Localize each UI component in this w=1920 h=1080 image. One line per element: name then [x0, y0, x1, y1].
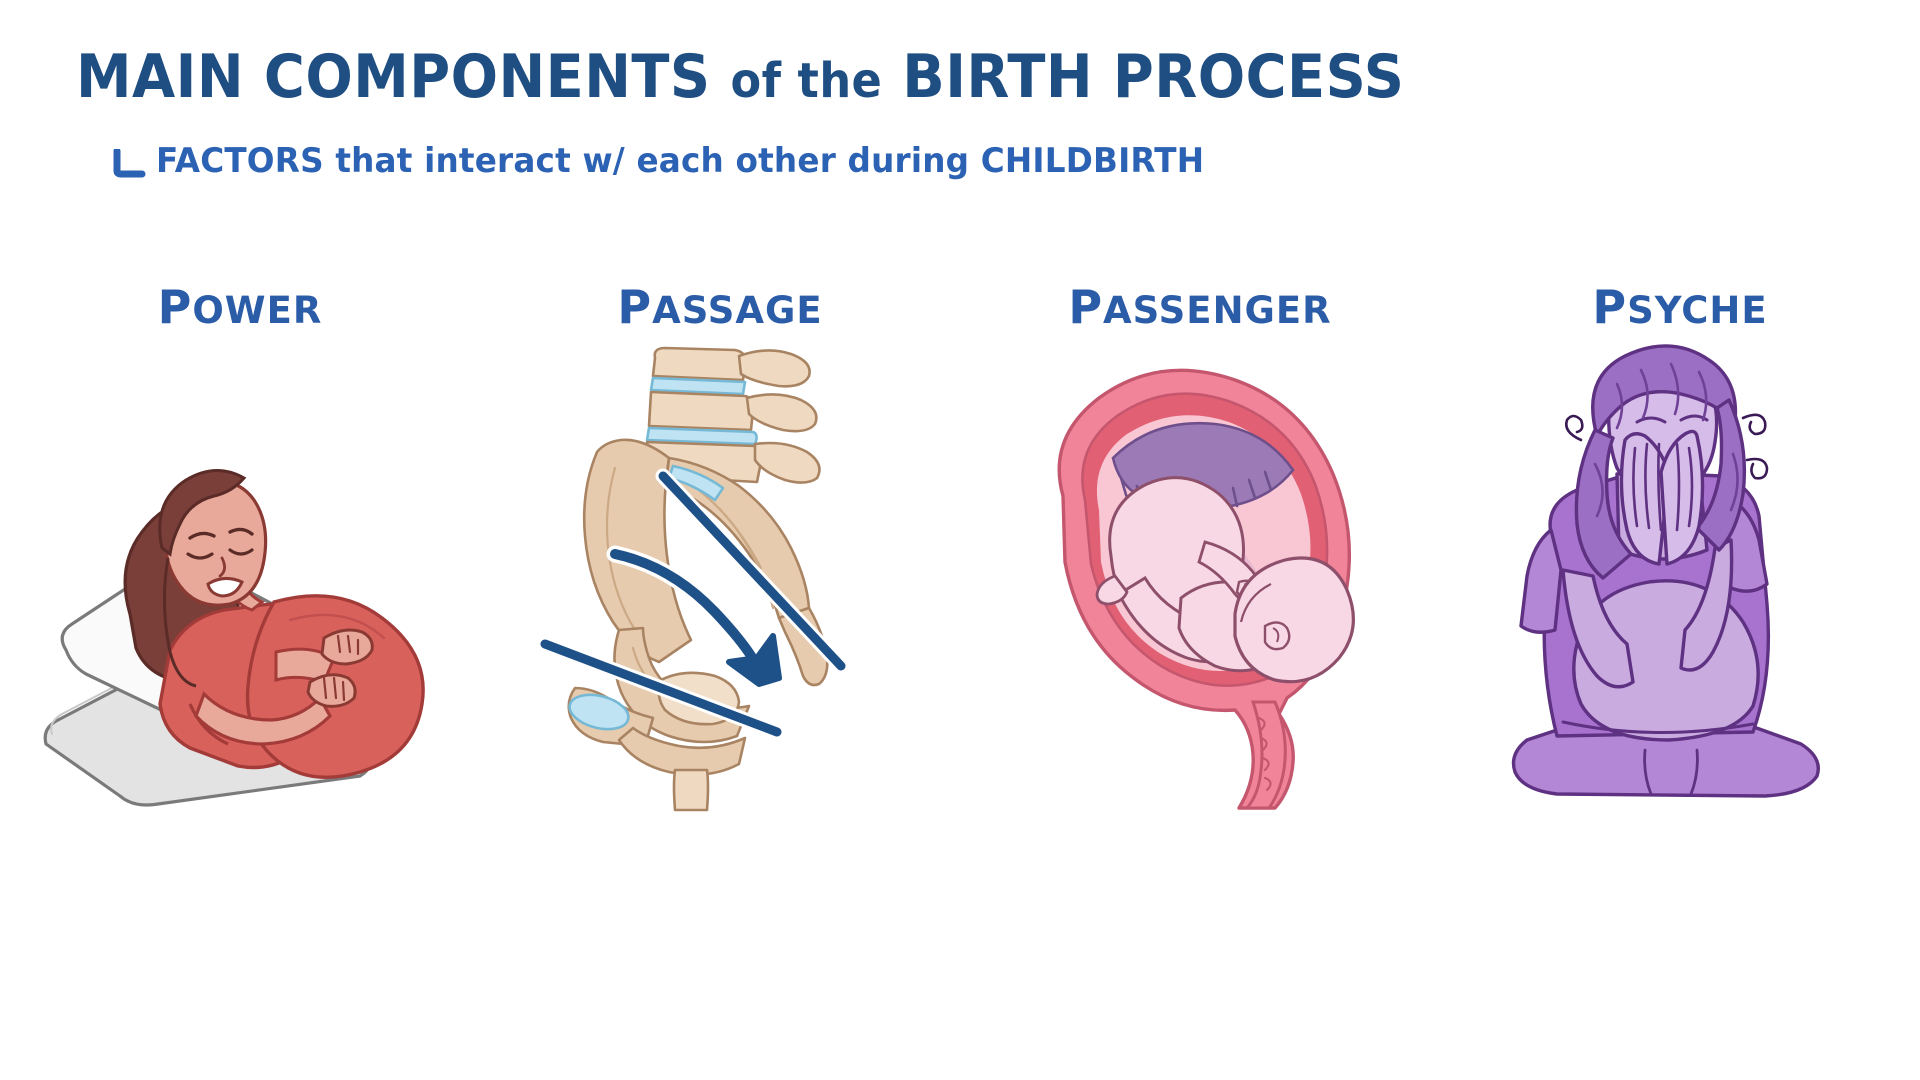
panel-label-power-cap: P	[158, 280, 193, 334]
panel-label-passenger-cap: P	[1068, 280, 1103, 334]
corner-elbow-icon	[112, 149, 146, 179]
panel-label-passage: PASSAGE	[617, 280, 822, 334]
panel-label-passage-rest: ASSAGE	[652, 289, 823, 332]
panel-psyche[interactable]: PSYCHE	[1440, 280, 1920, 900]
panel-label-passenger: PASSENGER	[1068, 280, 1331, 334]
panel-label-power-rest: OWER	[192, 289, 322, 332]
panel-label-passage-cap: P	[617, 280, 652, 334]
illustration-passenger	[1003, 346, 1403, 816]
panel-passage[interactable]: PASSAGE	[480, 280, 960, 900]
slide-canvas: MAIN COMPONENTS of the BIRTH PROCESS FAC…	[0, 0, 1920, 1080]
distressed-kneeling-pregnant-woman-illustration	[1485, 344, 1885, 814]
fetus-in-uterus-cephalic-presentation-illustration	[1003, 346, 1403, 816]
illustration-passage	[523, 340, 923, 810]
components-row: POWER	[0, 280, 1920, 900]
title-part-2: BIRTH PROCESS	[882, 42, 1404, 112]
panel-label-psyche-cap: P	[1592, 280, 1627, 334]
title-part-1: MAIN COMPONENTS	[76, 42, 730, 112]
sagittal-pelvis-birth-canal-illustration	[523, 340, 923, 810]
illustration-power	[38, 352, 438, 822]
panel-label-psyche: PSYCHE	[1592, 280, 1767, 334]
subtitle-row: FACTORS that interact w/ each other duri…	[112, 141, 1248, 181]
panel-label-passenger-rest: ASSENGER	[1103, 289, 1332, 332]
page-title: MAIN COMPONENTS of the BIRTH PROCESS	[76, 42, 1404, 112]
illustration-psyche	[1485, 344, 1885, 814]
panel-passenger[interactable]: PASSENGER	[960, 280, 1440, 900]
panel-power[interactable]: POWER	[0, 280, 480, 900]
title-lowercase-part: of the	[730, 53, 882, 109]
panel-label-power: POWER	[158, 280, 323, 334]
pregnant-woman-in-labor-reclining-illustration	[38, 352, 438, 822]
subtitle-text: FACTORS that interact w/ each other duri…	[156, 141, 1204, 181]
panel-label-psyche-rest: SYCHE	[1627, 289, 1768, 332]
